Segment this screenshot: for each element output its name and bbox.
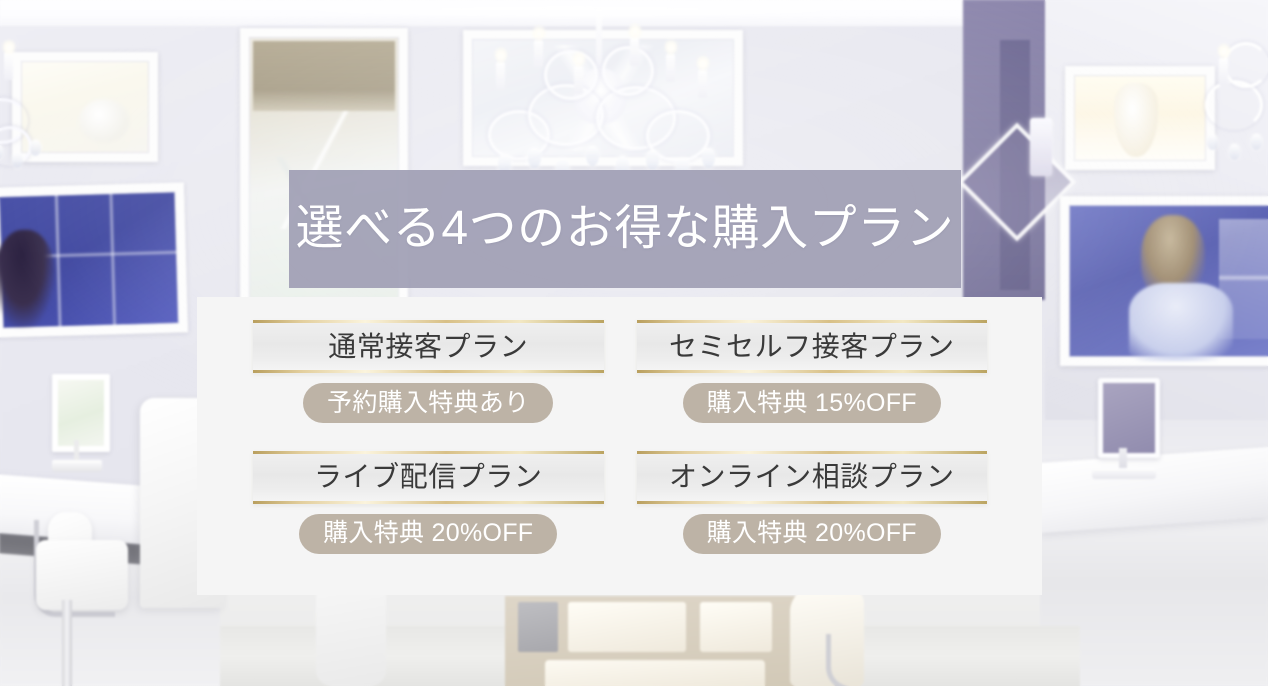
candle-flame xyxy=(533,24,545,40)
monitor-icon xyxy=(1098,378,1160,458)
desk-mirror-stand xyxy=(74,440,79,462)
crystal-drop xyxy=(646,150,659,170)
plan-title: ライブ配信プラン xyxy=(314,463,542,491)
wall-sconce-icon xyxy=(1195,30,1268,180)
title-banner: 選べる4つのお得な購入プラン xyxy=(289,170,961,288)
vase-icon xyxy=(1114,83,1158,157)
candle xyxy=(666,54,675,82)
crystal-drop xyxy=(1207,134,1218,150)
plans-panel: 通常接客プラン 予約購入特典あり セミセルフ接客プラン 購入特典 15%OFF … xyxy=(197,297,1042,595)
crystal-drop xyxy=(702,148,715,168)
candle xyxy=(574,66,583,94)
plan-header: オンライン相談プラン xyxy=(637,451,988,504)
crystal-drop xyxy=(12,152,23,168)
candle xyxy=(698,70,707,98)
framed-photo-icon xyxy=(1060,196,1268,366)
chair-seat xyxy=(36,540,128,610)
candle xyxy=(630,38,639,66)
candle-flame xyxy=(573,50,585,66)
promo-banner-screen: 選べる4つのお得な購入プラン 通常接客プラン 予約購入特典あり セミセルフ接客プ… xyxy=(0,0,1268,686)
plan-card-live-stream[interactable]: ライブ配信プラン 購入特典 20%OFF xyxy=(253,451,604,568)
desk-mirror-base xyxy=(52,460,102,472)
candle-flame xyxy=(697,54,709,70)
candle-flame xyxy=(665,38,677,54)
crystal-drop xyxy=(528,148,541,168)
candle-flame xyxy=(3,38,15,54)
plan-card-online-consult[interactable]: オンライン相談プラン 購入特典 20%OFF xyxy=(637,451,988,568)
crystal-drop xyxy=(1229,144,1240,160)
plan-title: 通常接客プラン xyxy=(328,333,528,361)
crystal-drop xyxy=(1251,134,1262,150)
page-title: 選べる4つのお得な購入プラン xyxy=(296,205,955,253)
framed-photo-icon xyxy=(0,182,188,337)
plans-grid: 通常接客プラン 予約購入特典あり セミセルフ接客プラン 購入特典 15%OFF … xyxy=(197,297,1042,595)
candle xyxy=(496,62,505,90)
candle-flame xyxy=(629,22,641,38)
chandelier-scroll xyxy=(544,50,598,100)
bench-cushion xyxy=(700,602,772,652)
person-body xyxy=(1129,283,1233,361)
chair-leg xyxy=(826,634,883,686)
plan-header: ライブ配信プラン xyxy=(253,451,604,504)
crystal-drop xyxy=(30,140,41,156)
candle xyxy=(1219,58,1228,86)
monitor-base xyxy=(1092,468,1156,479)
crystal-drop xyxy=(586,146,599,166)
plan-benefit-badge: 購入特典 20%OFF xyxy=(683,514,941,554)
chandelier-icon xyxy=(470,6,730,181)
window-shade xyxy=(253,41,395,111)
plan-header: 通常接客プラン xyxy=(253,320,604,373)
desk-mirror-icon xyxy=(52,374,110,452)
mirror-reflection xyxy=(79,99,129,143)
plan-benefit-badge: 購入特典 15%OFF xyxy=(683,383,941,423)
candle-flame xyxy=(495,46,507,62)
candle-flame xyxy=(1218,42,1230,58)
candle xyxy=(4,52,13,80)
plan-benefit-badge: 購入特典 20%OFF xyxy=(299,514,557,554)
plan-title: オンライン相談プラン xyxy=(669,463,955,491)
plan-benefit-badge: 予約購入特典あり xyxy=(303,383,553,423)
wall-mirror-icon xyxy=(1065,66,1215,170)
plan-title: セミセルフ接客プラン xyxy=(669,333,955,361)
chandelier-scroll xyxy=(602,46,654,96)
sconce-scroll xyxy=(1205,80,1263,130)
plan-card-semi-self[interactable]: セミセルフ接客プラン 購入特典 15%OFF xyxy=(637,320,988,437)
bench-cushion xyxy=(568,602,686,652)
plan-header: セミセルフ接客プラン xyxy=(637,320,988,373)
candle xyxy=(534,40,543,68)
bench-seat xyxy=(545,660,765,686)
bench-panel xyxy=(518,602,558,652)
chair-post xyxy=(62,600,72,686)
plan-card-normal[interactable]: 通常接客プラン 予約購入特典あり xyxy=(253,320,604,437)
mirror-strip xyxy=(1030,118,1052,176)
wall-sconce-icon xyxy=(0,40,54,168)
monitor-stand xyxy=(1119,448,1127,470)
